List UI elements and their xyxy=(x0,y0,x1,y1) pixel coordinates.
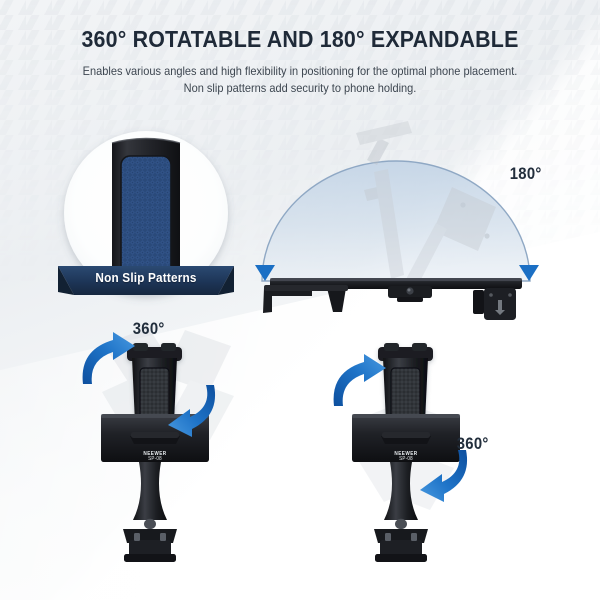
background-sheen xyxy=(0,205,600,600)
non-slip-banner-label: Non Slip Patterns xyxy=(9,271,283,285)
arc-arrow-right xyxy=(519,265,539,281)
subtitle-line-1: Enables various angles and high flexibil… xyxy=(15,63,585,80)
stand-base-right xyxy=(374,462,428,562)
center-pivot xyxy=(388,286,432,302)
rotation-arrow-left-up xyxy=(83,332,135,384)
ghost-rotations-left xyxy=(102,327,234,440)
product-brand-label-right: NEEWER SP-08 xyxy=(362,452,450,463)
right-mount-block xyxy=(473,288,516,320)
rotation-arrow-left-down xyxy=(168,385,215,437)
label-360-degrees-left: 360° xyxy=(133,320,165,339)
brand-model: SP-08 xyxy=(115,457,194,462)
label-180-degrees: 180° xyxy=(510,165,542,184)
ghost-mount-plate xyxy=(404,187,496,287)
subtitle-line-2: Non slip patterns add security to phone … xyxy=(15,80,585,97)
infographic-page: 360° ROTATABLE AND 180° EXPANDABLE Enabl… xyxy=(0,0,600,600)
rotation-arrow-right-up xyxy=(334,354,386,406)
phone-holder-left xyxy=(127,343,182,444)
stand-base-left xyxy=(123,462,177,562)
ghost-holder-upright xyxy=(356,121,412,279)
expand-180-diagram xyxy=(255,121,539,320)
phone-holder-right xyxy=(378,343,433,444)
horizontal-rail xyxy=(270,278,522,289)
brand-model: SP-08 xyxy=(366,457,445,462)
rotate-360-left-diagram xyxy=(83,327,234,562)
arc-180-region xyxy=(262,161,530,281)
label-360-degrees-right: 360° xyxy=(457,435,489,454)
product-brand-label-left: NEEWER SP-08 xyxy=(111,452,199,463)
subtitle-block: Enables various angles and high flexibil… xyxy=(0,63,600,97)
page-title: 360° ROTATABLE AND 180° EXPANDABLE xyxy=(21,26,579,53)
header: 360° ROTATABLE AND 180° EXPANDABLE Enabl… xyxy=(0,26,600,97)
non-slip-pattern-surface xyxy=(121,156,171,284)
left-clamp-bracket xyxy=(263,285,348,313)
